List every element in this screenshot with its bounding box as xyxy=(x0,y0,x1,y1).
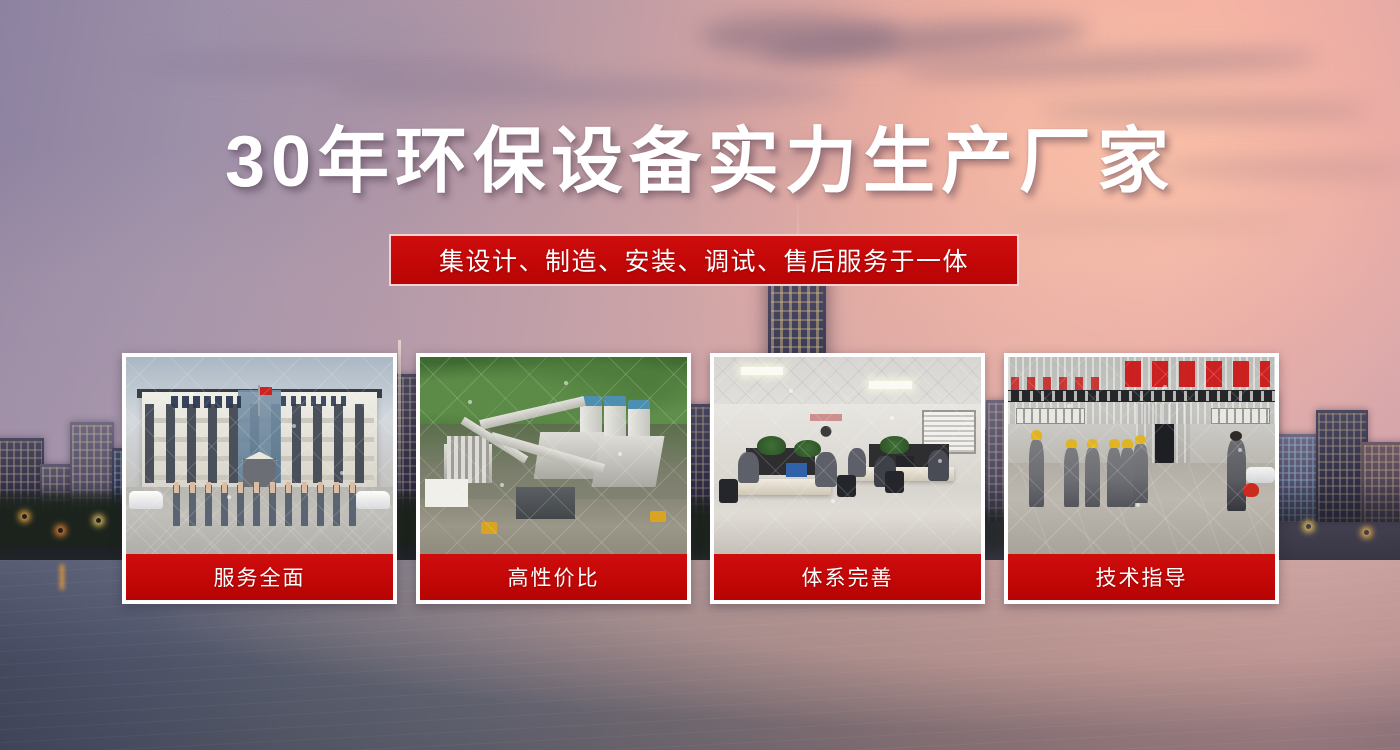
office-chair xyxy=(837,475,856,497)
feature-card-value[interactable]: 高性价比 xyxy=(416,353,691,604)
street-light xyxy=(1306,524,1311,529)
computer-monitor xyxy=(896,456,915,468)
feature-card-service[interactable]: 服务全面 xyxy=(122,353,397,604)
street-light xyxy=(1364,530,1369,535)
feature-card-row: 服务全面 xyxy=(122,353,1279,604)
factory-worker xyxy=(1085,448,1100,507)
parked-car xyxy=(129,491,164,509)
office-chair xyxy=(885,471,904,493)
card-caption: 体系完善 xyxy=(714,554,981,600)
office-interior-staff-photo xyxy=(714,357,981,554)
street-light xyxy=(58,528,63,533)
feature-card-guidance[interactable]: 技术指导 xyxy=(1004,353,1279,604)
factory-window xyxy=(1211,408,1270,424)
ceiling-light xyxy=(869,381,912,389)
excavator xyxy=(650,511,666,523)
supervisor xyxy=(1227,440,1246,511)
office-worker xyxy=(815,452,836,487)
factory-workers-training-photo xyxy=(1008,357,1275,554)
staff-lineup xyxy=(169,485,356,526)
factory-signage xyxy=(1125,361,1269,387)
cloud xyxy=(1040,100,1370,122)
potted-plant xyxy=(757,436,786,456)
office-worker xyxy=(848,448,867,478)
ceiling-light xyxy=(741,367,784,375)
card-caption: 技术指导 xyxy=(1008,554,1275,600)
light-reflection xyxy=(60,564,64,590)
industrial-plant-aerial-photo xyxy=(420,357,687,554)
company-office-building-photo xyxy=(126,357,393,554)
office-worker xyxy=(738,452,759,484)
computer-monitor xyxy=(786,463,807,477)
street-light xyxy=(96,518,101,523)
feature-card-system[interactable]: 体系完善 xyxy=(710,353,985,604)
building-phone-number xyxy=(281,396,350,406)
flagpole-icon xyxy=(258,385,260,417)
subtitle-text: 集设计、制造、安装、调试、售后服务于一体 xyxy=(439,242,969,278)
parked-car xyxy=(356,491,391,509)
factory-window xyxy=(1016,408,1085,424)
excavator xyxy=(481,522,497,534)
red-helmet xyxy=(1243,483,1259,497)
office-worker xyxy=(928,450,949,482)
cloud xyxy=(230,22,530,42)
subtitle-banner: 集设计、制造、安装、调试、售后服务于一体 xyxy=(389,234,1019,286)
factory-worker xyxy=(1029,440,1044,507)
parked-car xyxy=(1246,467,1275,483)
factory-worker xyxy=(1064,448,1079,507)
promotional-banner: 30年环保设备实力生产厂家 集设计、制造、安装、调试、售后服务于一体 xyxy=(0,0,1400,750)
building-signage xyxy=(171,396,240,408)
street-light xyxy=(22,514,27,519)
potted-plant xyxy=(794,440,821,458)
factory-worker xyxy=(1133,444,1148,503)
page-title: 30年环保设备实力生产厂家 xyxy=(0,126,1400,198)
cloud xyxy=(330,78,850,104)
wall-decal xyxy=(810,414,842,442)
potted-plant xyxy=(880,436,909,454)
card-caption: 服务全面 xyxy=(126,554,393,600)
card-caption: 高性价比 xyxy=(420,554,687,600)
office-chair xyxy=(719,479,738,503)
